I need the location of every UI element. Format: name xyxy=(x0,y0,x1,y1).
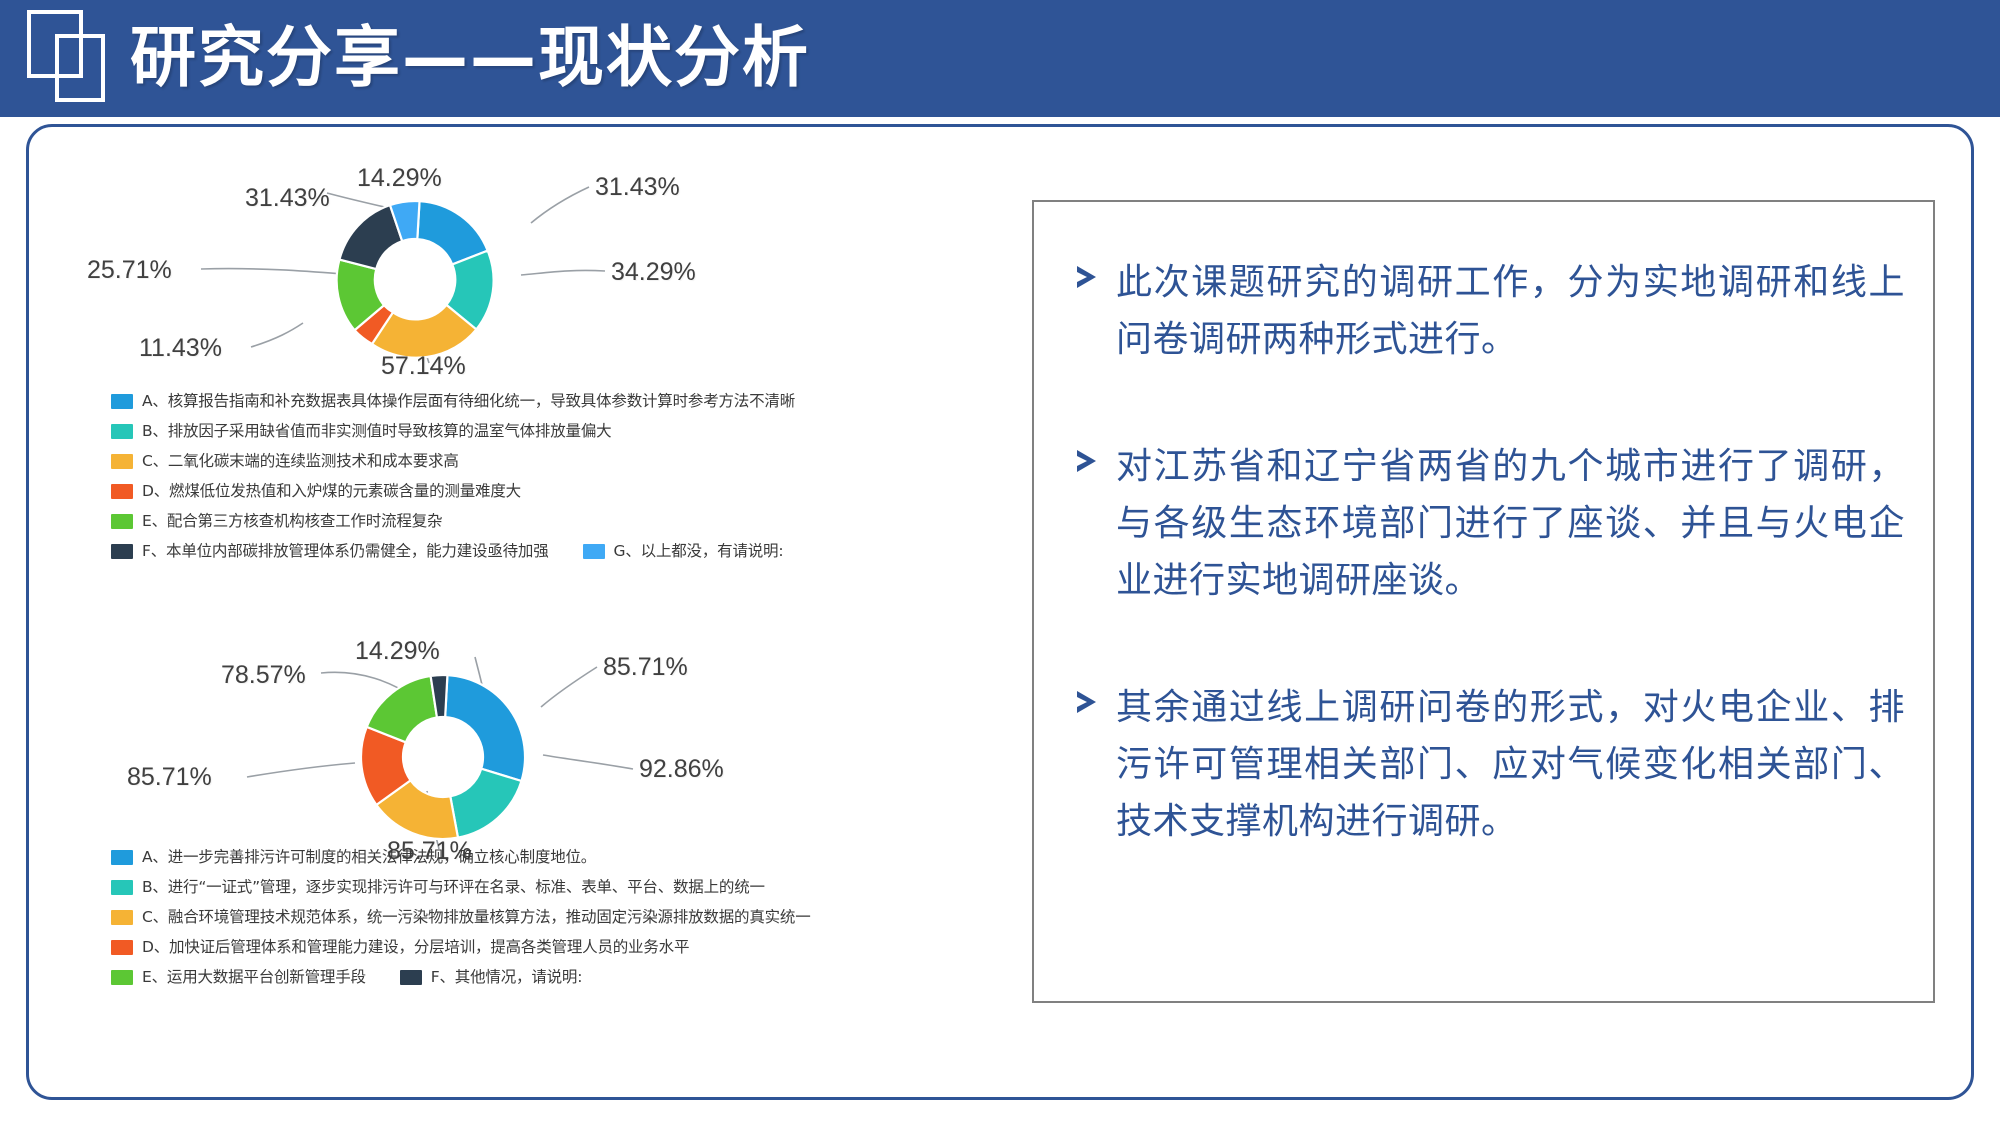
donut-1-label-1143: 11.43% xyxy=(139,334,222,363)
note-text: 此次课题研究的调研工作，分为实地调研和线上问卷调研两种形式进行。 xyxy=(1116,254,1905,368)
legend-swatch-a-icon xyxy=(111,850,133,865)
donut-2-label-1429: 14.29% xyxy=(355,637,440,666)
note-text: 对江苏省和辽宁省两省的九个城市进行了调研，与各级生态环境部门进行了座谈、并且与火… xyxy=(1116,438,1905,609)
legend-item[interactable]: F、本单位内部碳排放管理体系仍需健全，能力建设亟待加强 G、以上都没，有请说明: xyxy=(111,541,1011,563)
donut-2-label-8571-right: 85.71% xyxy=(603,653,688,682)
legend-item[interactable]: E、配合第三方核查机构核查工作时流程复杂 xyxy=(111,511,1011,533)
note-text: 其余通过线上调研问卷的形式，对火电企业、排污许可管理相关部门、应对气候变化相关部… xyxy=(1116,679,1905,850)
note-item: 此次课题研究的调研工作，分为实地调研和线上问卷调研两种形式进行。 xyxy=(1072,254,1905,368)
legend-item[interactable]: A、进一步完善排污许可制度的相关法律法规，确立核心制度地位。 xyxy=(111,847,1011,869)
legend-swatch-e-icon xyxy=(111,970,133,985)
page-title: 研究分享——现状分析 xyxy=(130,6,810,110)
donut-2-label-9286: 92.86% xyxy=(639,755,724,784)
legend-swatch-c-icon xyxy=(111,454,133,469)
legend-item[interactable]: A、核算报告指南和补充数据表具体操作层面有待细化统一，导致具体参数计算时参考方法… xyxy=(111,391,1011,413)
legend-swatch-e-icon xyxy=(111,514,133,529)
legend-item-label: D、加快证后管理体系和管理能力建设，分层培训，提高各类管理人员的业务水平 xyxy=(142,937,689,958)
legend-item-label: C、二氧化碳末端的连续监测技术和成本要求高 xyxy=(142,451,459,472)
legend-swatch-f-icon xyxy=(111,544,133,559)
donut-1-label-3429: 34.29% xyxy=(611,258,696,287)
legend-item-label: B、进行“一证式”管理，逐步实现排污许可与环评在名录、标准、表单、平台、数据上的… xyxy=(142,877,765,898)
legend-swatch-b-icon xyxy=(111,880,133,895)
donut-chart-1-graphic xyxy=(69,151,1019,409)
legend-item-label: D、燃煤低位发热值和入炉煤的元素碳含量的测量难度大 xyxy=(142,481,521,502)
legend-swatch-d-icon xyxy=(111,940,133,955)
donut-1-label-5714: 57.14% xyxy=(381,352,466,381)
donut-1-label-2571: 25.71% xyxy=(87,256,172,285)
two-overlapping-squares-logo xyxy=(24,8,108,104)
legend-item[interactable]: C、融合环境管理技术规范体系，统一污染物排放量核算方法，推动固定污染源排放数据的… xyxy=(111,907,1011,929)
note-item: 其余通过线上调研问卷的形式，对火电企业、排污许可管理相关部门、应对气候变化相关部… xyxy=(1072,679,1905,850)
donut-2-segments xyxy=(361,675,525,839)
note-item: 对江苏省和辽宁省两省的九个城市进行了调研，与各级生态环境部门进行了座谈、并且与火… xyxy=(1072,438,1905,609)
legend-item-g[interactable]: G、以上都没，有请说明: xyxy=(583,541,784,562)
legend-item[interactable]: D、加快证后管理体系和管理能力建设，分层培训，提高各类管理人员的业务水平 xyxy=(111,937,1011,959)
legend-item-label: E、运用大数据平台创新管理手段 xyxy=(142,967,366,988)
legend-item-label: G、以上都没，有请说明: xyxy=(614,541,784,562)
legend-item[interactable]: E、运用大数据平台创新管理手段 F、其他情况，请说明: xyxy=(111,967,1011,989)
donut-1-legend: A、核算报告指南和补充数据表具体操作层面有待细化统一，导致具体参数计算时参考方法… xyxy=(111,391,1011,571)
legend-swatch-b-icon xyxy=(111,424,133,439)
donut-1-label-1429: 14.29% xyxy=(357,164,442,193)
survey-chart-1: 14.29% 31.43% 25.71% 11.43% 57.14% 34.29… xyxy=(69,151,1019,621)
legend-item-label: B、排放因子采用缺省值而非实测值时导致核算的温室气体排放量偏大 xyxy=(142,421,611,442)
legend-item[interactable]: B、进行“一证式”管理，逐步实现排污许可与环评在名录、标准、表单、平台、数据上的… xyxy=(111,877,1011,899)
donut-2-label-7857: 78.57% xyxy=(221,661,306,690)
legend-item-label: E、配合第三方核查机构核查工作时流程复杂 xyxy=(142,511,442,532)
legend-swatch-f-icon xyxy=(400,970,422,985)
legend-swatch-d-icon xyxy=(111,484,133,499)
donut-1-segments xyxy=(337,201,494,358)
legend-item[interactable]: C、二氧化碳末端的连续监测技术和成本要求高 xyxy=(111,451,1011,473)
content-card: 14.29% 31.43% 25.71% 11.43% 57.14% 34.29… xyxy=(26,124,1974,1100)
legend-item[interactable]: B、排放因子采用缺省值而非实测值时导致核算的温室气体排放量偏大 xyxy=(111,421,1011,443)
slide-header-band: 研究分享——现状分析 xyxy=(0,0,2000,117)
notes-list: 此次课题研究的调研工作，分为实地调研和线上问卷调研两种形式进行。 对江苏省和辽宁… xyxy=(1072,254,1905,920)
arrow-bullet-icon xyxy=(1072,438,1116,481)
survey-chart-2: 14.29% 78.57% 85.71% 85.71% 92.86% 85.71… xyxy=(69,629,1019,1089)
legend-item-label: A、进一步完善排污许可制度的相关法律法规，确立核心制度地位。 xyxy=(142,847,596,868)
legend-item[interactable]: D、燃煤低位发热值和入炉煤的元素碳含量的测量难度大 xyxy=(111,481,1011,503)
donut-1-label-3143-top: 31.43% xyxy=(245,184,330,213)
legend-item-label: C、融合环境管理技术规范体系，统一污染物排放量核算方法，推动固定污染源排放数据的… xyxy=(142,907,811,928)
donut-1-label-3143-right: 31.43% xyxy=(595,173,680,202)
donut-chart-1: 14.29% 31.43% 25.71% 11.43% 57.14% 34.29… xyxy=(69,151,1019,409)
legend-item-f[interactable]: F、其他情况，请说明: xyxy=(400,967,582,988)
notes-panel: 此次课题研究的调研工作，分为实地调研和线上问卷调研两种形式进行。 对江苏省和辽宁… xyxy=(1032,200,1935,1003)
legend-swatch-c-icon xyxy=(111,910,133,925)
legend-item-label: F、本单位内部碳排放管理体系仍需健全，能力建设亟待加强 xyxy=(142,541,549,562)
arrow-bullet-icon xyxy=(1072,679,1116,722)
legend-item-label: F、其他情况，请说明: xyxy=(431,967,582,988)
legend-swatch-g-icon xyxy=(583,544,605,559)
arrow-bullet-icon xyxy=(1072,254,1116,297)
donut-2-legend: A、进一步完善排污许可制度的相关法律法规，确立核心制度地位。 B、进行“一证式”… xyxy=(111,847,1011,997)
donut-2-label-8571-left: 85.71% xyxy=(127,763,212,792)
legend-item-label: A、核算报告指南和补充数据表具体操作层面有待细化统一，导致具体参数计算时参考方法… xyxy=(142,391,795,412)
charts-column: 14.29% 31.43% 25.71% 11.43% 57.14% 34.29… xyxy=(69,137,1019,1087)
legend-swatch-a-icon xyxy=(111,394,133,409)
